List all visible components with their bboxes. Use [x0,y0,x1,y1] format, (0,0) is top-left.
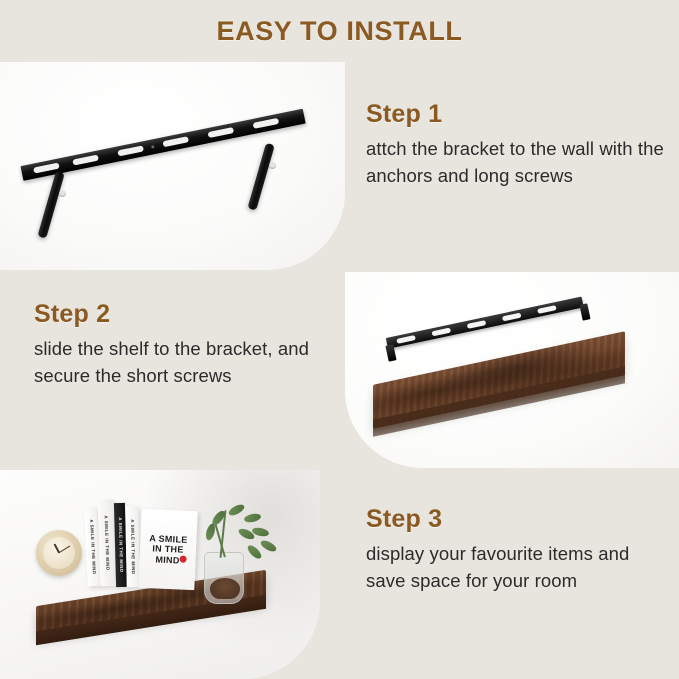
bracket-center-mark [151,145,155,149]
bracket-slot [431,328,451,337]
step-1-heading: Step 1 [366,100,666,129]
wall-bracket-photo [0,62,345,270]
glass-vase [204,552,244,604]
book-spine-text: A SMILE IN THE MIND [104,515,111,570]
bracket-slot [253,118,280,129]
vase-soil [210,578,240,599]
book-spine-text: A SMILE IN THE MIND [117,517,123,572]
step-2-body: slide the shelf to the bracket, and secu… [34,336,334,390]
page-title-bar: EASY TO INSTALL [0,0,679,62]
bracket-slot [117,145,144,156]
step-3-heading: Step 3 [366,505,666,534]
step-3-body: display your favourite items and save sp… [366,541,666,595]
shelf-on-bracket-photo [345,272,679,468]
bracket-slot [162,136,189,147]
bracket-slot [467,320,487,329]
bracket-slot [207,127,234,138]
book-spine-text: A SMILE IN THE MIND [130,519,136,574]
step-2-heading: Step 2 [34,300,334,329]
book-cover-line-3: MIND [155,554,180,565]
step-3-text: Step 3 display your favourite items and … [366,505,666,595]
bracket-slot [502,313,522,322]
bracket-slot [396,335,416,344]
book-spine-text: A SMILE IN THE MIND [89,519,97,574]
step-1-body: attch the bracket to the wall with the a… [366,136,666,190]
desk-clock [36,530,82,576]
book: A SMILE IN THE MIND [125,506,139,587]
bracket-screw [269,162,276,169]
book-front-cover: A SMILE IN THE MIND [138,509,197,590]
bracket-screw [59,190,66,197]
page-title: EASY TO INSTALL [216,16,462,47]
book-cover-dot [179,556,186,563]
bracket-slot [537,305,557,314]
bracket-slot [72,155,99,166]
step-2-text: Step 2 slide the shelf to the bracket, a… [34,300,334,390]
styled-shelf-photo: A SMILE IN THE MIND A SMILE IN THE MIND … [0,470,320,679]
step-1-text: Step 1 attch the bracket to the wall wit… [366,100,666,190]
